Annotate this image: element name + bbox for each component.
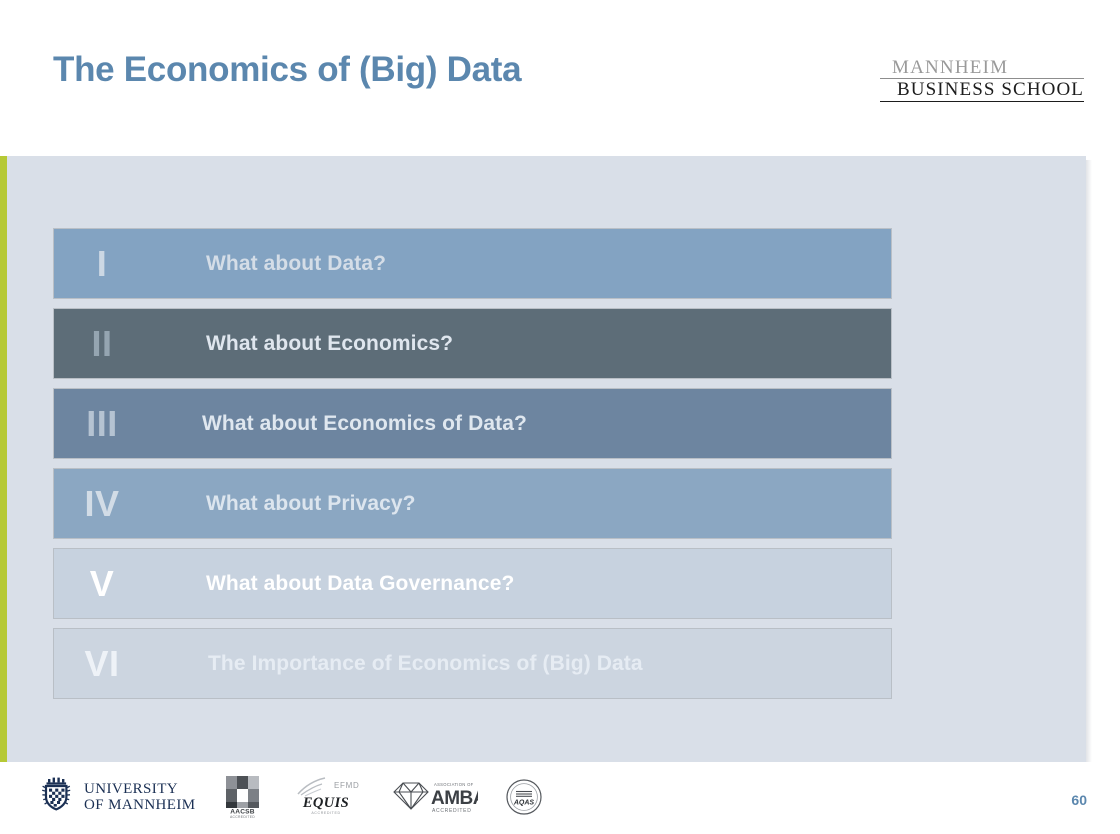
agenda-item-numeral: V [54, 566, 150, 602]
mbs-logo-line1: MANNHEIM [880, 58, 1084, 79]
left-accent-stripe [0, 156, 7, 762]
page-number: 60 [1071, 792, 1087, 808]
agenda-item-label: What about Data Governance? [206, 572, 514, 596]
slide-footer: UNIVERSITY OF MANNHEIM AACSB AC [0, 762, 1120, 834]
agenda-item-numeral: IV [54, 486, 150, 522]
agenda-item-label: What about Privacy? [206, 492, 416, 516]
svg-text:AQAS: AQAS [512, 800, 534, 807]
slide-header: The Economics of (Big) Data MANNHEIM BUS… [0, 0, 1120, 156]
svg-text:EQUIS: EQUIS [301, 795, 348, 811]
aqas-logo: AQAS [504, 777, 544, 817]
university-of-mannheim-logo: UNIVERSITY OF MANNHEIM [40, 775, 196, 820]
svg-text:EFMD: EFMD [334, 781, 359, 790]
agenda-list: IWhat about Data?IIWhat about Economics?… [53, 228, 892, 708]
svg-text:ACCREDITED: ACCREDITED [311, 811, 340, 815]
university-name-line1: UNIVERSITY [84, 781, 196, 797]
agenda-item-numeral: II [54, 326, 150, 362]
mbs-logo-line2: BUSINESS SCHOOL [880, 79, 1084, 102]
agenda-item-label: What about Data? [206, 252, 386, 276]
agenda-item-vi[interactable]: VIThe Importance of Economics of (Big) D… [53, 628, 892, 699]
mannheim-business-school-logo: MANNHEIM BUSINESS SCHOOL [880, 58, 1084, 100]
agenda-item-i[interactable]: IWhat about Data? [53, 228, 892, 299]
university-name-line2: OF MANNHEIM [84, 797, 196, 813]
agenda-item-numeral: III [54, 406, 150, 442]
agenda-item-label: What about Economics of Data? [202, 412, 527, 436]
equis-logo: EFMD EQUIS ACCREDITED [292, 775, 360, 819]
agenda-item-v[interactable]: VWhat about Data Governance? [53, 548, 892, 619]
page-title: The Economics of (Big) Data [53, 50, 521, 90]
agenda-item-numeral: VI [54, 646, 150, 682]
svg-text:ACCREDITED: ACCREDITED [432, 808, 472, 814]
university-name: UNIVERSITY OF MANNHEIM [84, 781, 196, 813]
agenda-item-label: The Importance of Economics of (Big) Dat… [208, 652, 643, 676]
amba-logo: AMBA ASSOCIATION OF ACCREDITED [386, 776, 478, 818]
agenda-item-iii[interactable]: IIIWhat about Economics of Data? [53, 388, 892, 459]
svg-text:ASSOCIATION OF: ASSOCIATION OF [434, 782, 474, 787]
agenda-item-iv[interactable]: IVWhat about Privacy? [53, 468, 892, 539]
accreditation-logo-row: UNIVERSITY OF MANNHEIM AACSB AC [40, 772, 544, 822]
agenda-item-label: What about Economics? [206, 332, 453, 356]
svg-text:AMBA: AMBA [431, 788, 478, 809]
panel-shadow [1086, 160, 1092, 762]
slide-root: The Economics of (Big) Data MANNHEIM BUS… [0, 0, 1120, 834]
agenda-item-numeral: I [54, 246, 150, 282]
aacsb-logo: AACSB ACCREDITED [222, 774, 266, 820]
mannheim-crest-icon [40, 775, 80, 820]
agenda-item-ii[interactable]: IIWhat about Economics? [53, 308, 892, 379]
svg-text:ACCREDITED: ACCREDITED [229, 815, 254, 819]
